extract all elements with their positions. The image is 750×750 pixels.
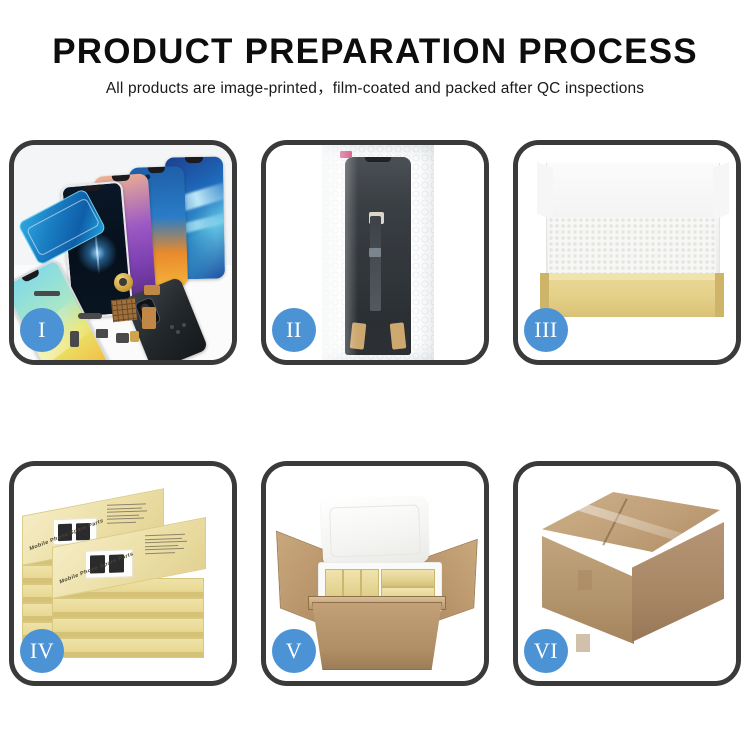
foam-sheet-icon <box>548 217 716 275</box>
connector-part-icon <box>78 313 102 319</box>
step-badge-3: III <box>524 308 568 352</box>
box-spec-lines <box>107 503 151 526</box>
process-steps-grid: I II <box>9 140 741 686</box>
flex-cable-part-icon <box>142 307 156 329</box>
spare-components-group <box>74 273 184 353</box>
foam-lid-icon <box>321 496 429 566</box>
step-badge-6: VI <box>524 629 568 673</box>
battery-part-icon <box>70 331 79 347</box>
process-step-panel-6[interactable]: VI <box>513 461 741 686</box>
step-badge-4: IV <box>20 629 64 673</box>
carton-tab-icon <box>578 570 592 590</box>
flex-cable-part-icon <box>144 285 160 295</box>
earpiece-part-icon <box>34 291 60 296</box>
process-step-panel-1[interactable]: I <box>9 140 237 365</box>
yellow-box-tray-icon <box>540 273 724 317</box>
process-step-panel-3[interactable]: III <box>513 140 741 365</box>
process-step-panel-2[interactable]: II <box>261 140 489 365</box>
chip-part-icon <box>111 298 137 322</box>
step-badge-1: I <box>20 308 64 352</box>
page-subtitle: All products are image-printed，film-coat… <box>0 77 750 101</box>
vibrator-part-icon <box>130 331 139 342</box>
ic-part-icon <box>96 329 108 338</box>
step-badge-2: II <box>272 308 316 352</box>
camera-part-icon <box>116 333 129 343</box>
carton-tab-icon <box>576 634 590 652</box>
box-spec-lines <box>145 534 191 557</box>
process-step-panel-5[interactable]: V <box>261 461 489 686</box>
page-title: PRODUCT PREPARATION PROCESS <box>0 30 750 74</box>
screws-part-icon <box>170 325 174 329</box>
carton-body-icon <box>312 602 442 670</box>
process-step-panel-4[interactable]: Mobile Phone Spare Parts Mobile Phone Sp… <box>9 461 237 686</box>
header: PRODUCT PREPARATION PROCESS All products… <box>0 0 750 101</box>
speaker-part-icon <box>114 273 133 292</box>
step-badge-5: V <box>272 629 316 673</box>
inner-retail-box-icon <box>381 569 435 587</box>
bubble-wrap-bag-icon <box>322 145 434 360</box>
